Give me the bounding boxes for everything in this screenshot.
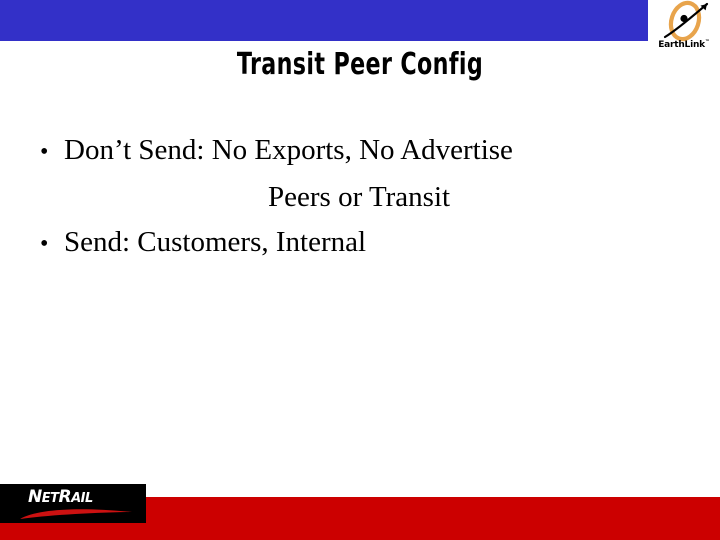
earthlink-trademark: ™ bbox=[705, 39, 710, 45]
earthlink-logo: EarthLink™ bbox=[648, 0, 720, 56]
netrail-et: ET bbox=[42, 491, 59, 506]
netrail-logo: NETRAIL bbox=[0, 484, 146, 523]
slide-canvas: EarthLink™ Transit Peer Config •Don’t Se… bbox=[0, 0, 720, 540]
swoosh-icon bbox=[20, 508, 132, 520]
list-item-text: Don’t Send: No Exports, No Advertise bbox=[64, 134, 513, 166]
netrail-ail: AIL bbox=[71, 491, 93, 506]
earthlink-wordmark: EarthLink™ bbox=[648, 39, 720, 50]
list-item-continuation: Peers or Transit bbox=[40, 175, 660, 220]
header-banner bbox=[0, 0, 648, 41]
netrail-n: N bbox=[28, 487, 42, 507]
earthlink-name-text: EarthLink bbox=[658, 40, 705, 50]
page-title: Transit Peer Config bbox=[94, 48, 627, 82]
bullet-icon: • bbox=[40, 130, 64, 175]
list-item-text: Send: Customers, Internal bbox=[64, 226, 366, 258]
planet-ring-icon bbox=[654, 0, 716, 42]
list-item-text: Peers or Transit bbox=[268, 181, 450, 213]
list-item: •Send: Customers, Internal bbox=[40, 220, 660, 267]
bullet-list: •Don’t Send: No Exports, No Advertise Pe… bbox=[40, 128, 660, 267]
bullet-icon: • bbox=[40, 222, 64, 267]
netrail-r: R bbox=[58, 487, 71, 507]
netrail-wordmark: NETRAIL bbox=[28, 488, 93, 508]
list-item: •Don’t Send: No Exports, No Advertise bbox=[40, 128, 660, 175]
